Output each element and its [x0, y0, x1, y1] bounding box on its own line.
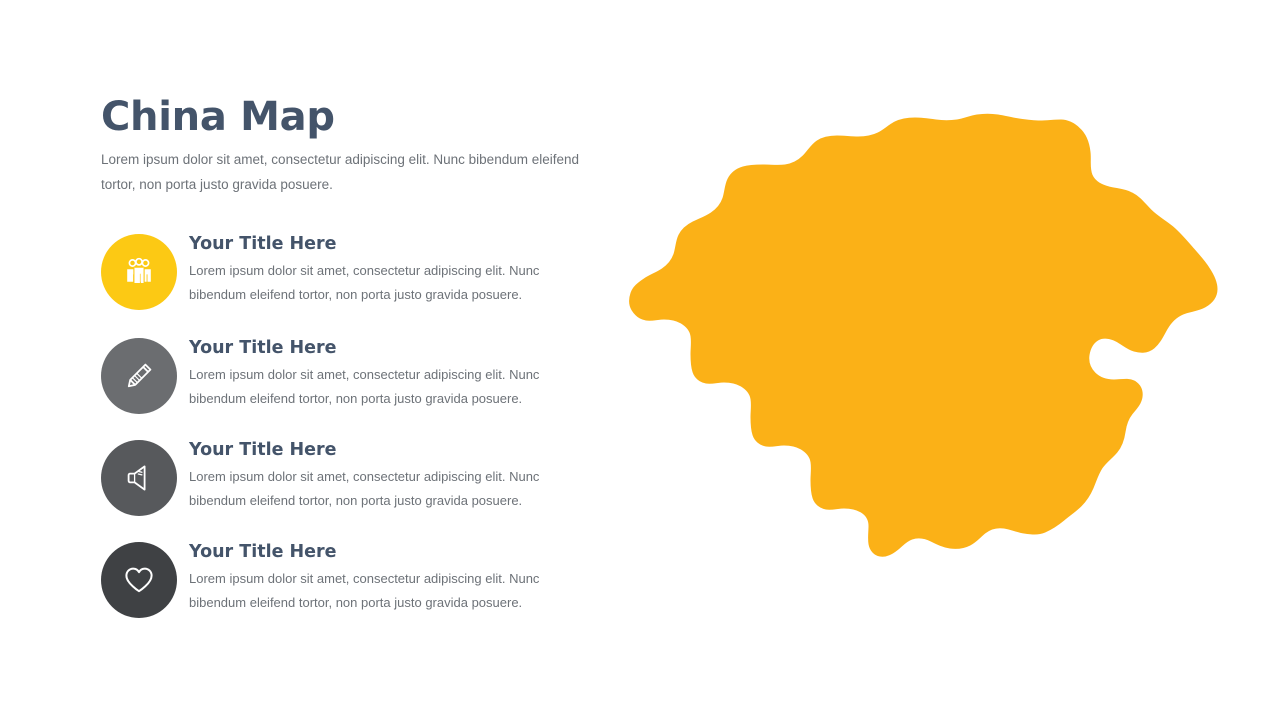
feature-title-4: Your Title Here	[189, 542, 611, 563]
header-block: China Map Lorem ipsum dolor sit amet, co…	[101, 96, 611, 198]
slide-root: China Map Lorem ipsum dolor sit amet, co…	[0, 0, 1280, 720]
users-group-icon[interactable]	[101, 234, 177, 310]
feature-description-3: Lorem ipsum dolor sit amet, consectetur …	[189, 465, 593, 513]
intro-paragraph: Lorem ipsum dolor sit amet, consectetur …	[101, 148, 593, 198]
feature-item-1[interactable]: Your Title Here Lorem ipsum dolor sit am…	[101, 234, 611, 310]
china-map-graphic[interactable]	[596, 110, 1268, 620]
feature-item-3[interactable]: Your Title Here Lorem ipsum dolor sit am…	[101, 440, 611, 516]
feature-title-3: Your Title Here	[189, 440, 611, 461]
feature-description-2: Lorem ipsum dolor sit amet, consectetur …	[189, 363, 593, 411]
speaker-volume-icon[interactable]	[101, 440, 177, 516]
feature-item-4[interactable]: Your Title Here Lorem ipsum dolor sit am…	[101, 542, 611, 618]
feature-list: Your Title Here Lorem ipsum dolor sit am…	[101, 228, 611, 618]
heart-icon[interactable]	[101, 542, 177, 618]
feature-item-2[interactable]: Your Title Here Lorem ipsum dolor sit am…	[101, 338, 611, 414]
feature-description-4: Lorem ipsum dolor sit amet, consectetur …	[189, 567, 593, 615]
feature-description-1: Lorem ipsum dolor sit amet, consectetur …	[189, 259, 593, 307]
page-title: China Map	[101, 96, 611, 138]
feature-title-1: Your Title Here	[189, 234, 611, 255]
feature-title-2: Your Title Here	[189, 338, 611, 359]
pencil-icon[interactable]	[101, 338, 177, 414]
